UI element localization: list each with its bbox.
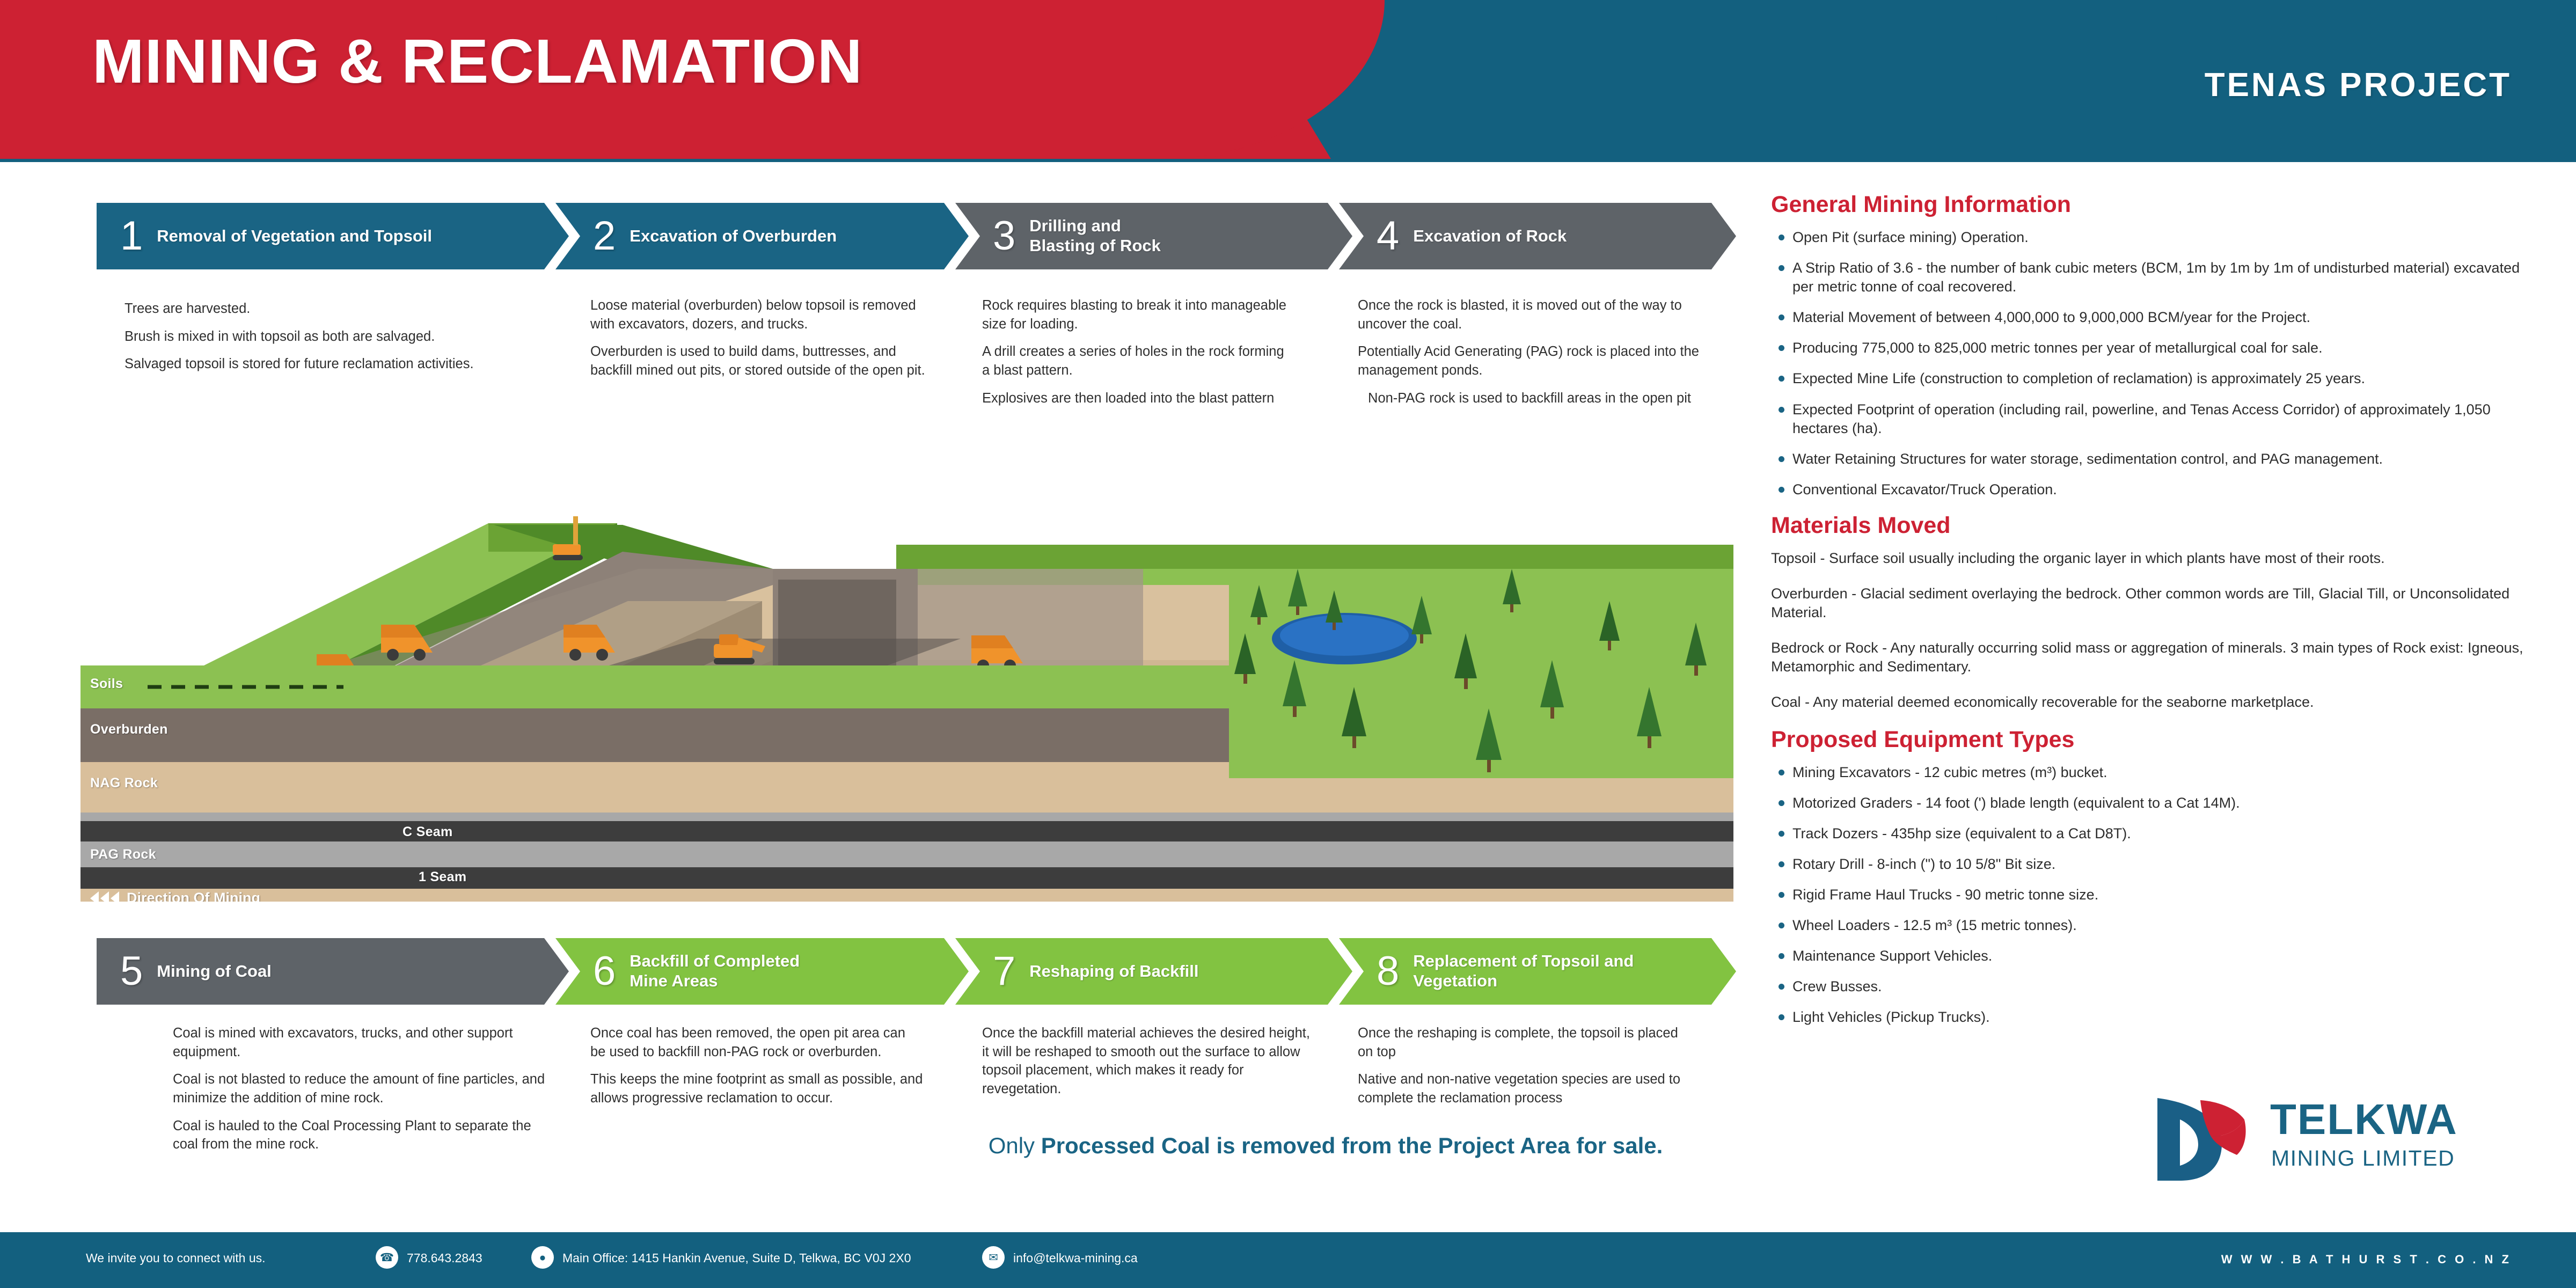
footer-website-url[interactable]: W W W . B A T H U R S T . C O . N Z — [2221, 1253, 2512, 1267]
step-paragraph: Once the rock is blasted, it is moved ou… — [1358, 296, 1701, 333]
definition-bedrock: Bedrock or Rock - Any naturally occurrin… — [1771, 639, 2533, 677]
step-paragraph: Native and non-native vegetation species… — [1358, 1070, 1690, 1107]
list-item: Producing 775,000 to 825,000 metric tonn… — [1771, 339, 2533, 357]
list-item: Water Retaining Structures for water sto… — [1771, 450, 2533, 469]
logo-wordmark: TELKWA — [2270, 1098, 2458, 1141]
step-number-7: 7 — [993, 951, 1015, 992]
step-text-5: Coal is mined with excavators, trucks, a… — [173, 1024, 548, 1163]
step-label-7: Reshaping of Backfill — [1029, 962, 1198, 982]
equipment-list: Mining Excavators - 12 cubic metres (m³)… — [1771, 763, 2533, 1027]
step-chevron-3[interactable]: 3 Drilling and Blasting of Rock — [955, 203, 1352, 269]
step-label-3: Drilling and Blasting of Rock — [1029, 216, 1190, 255]
list-item: Rotary Drill - 8-inch (") to 10 5/8" Bit… — [1771, 855, 2533, 874]
envelope-icon: ✉ — [982, 1246, 1005, 1269]
section-title-equipment: Proposed Equipment Types — [1771, 728, 2533, 751]
step-number-8: 8 — [1377, 951, 1399, 992]
step-paragraph: Loose material (overburden) below topsoi… — [590, 296, 934, 333]
step-label-8: Replacement of Topsoil and Vegetation — [1413, 952, 1638, 991]
list-item: Conventional Excavator/Truck Operation. — [1771, 480, 2533, 499]
phone-icon: ☎ — [376, 1246, 398, 1269]
step-paragraph: Salvaged topsoil is stored for future re… — [125, 355, 565, 374]
stratum-pag — [80, 841, 1229, 867]
footer-address: Main Office: 1415 Hankin Avenue, Suite D… — [562, 1252, 911, 1264]
mine-cross-section-diagram: Soils Overburden NAG Rock PAG Rock C Sea… — [80, 408, 1733, 902]
tagline-rest: is removed from the Project Area for sal… — [1210, 1133, 1663, 1158]
step-chevron-5[interactable]: 5 Mining of Coal — [97, 938, 569, 1005]
footer-arc-decoration — [1996, 0, 2576, 21]
tagline-lead: Only — [989, 1133, 1041, 1158]
step-text-2: Loose material (overburden) below topsoi… — [590, 296, 934, 389]
step-paragraph: Rock requires blasting to break it into … — [982, 296, 1293, 333]
page-header: MINING & RECLAMATION TENAS PROJECT — [0, 0, 2576, 159]
section-title-materials-moved: Materials Moved — [1771, 514, 2533, 537]
step-paragraph: Once the reshaping is complete, the tops… — [1358, 1024, 1690, 1061]
step-text-6: Once coal has been removed, the open pit… — [590, 1024, 923, 1117]
mine-diagram-svg — [80, 408, 1733, 902]
tagline-emphasis: Processed Coal — [1041, 1133, 1210, 1158]
list-item: Expected Mine Life (construction to comp… — [1771, 369, 2533, 388]
general-mining-list: Open Pit (surface mining) Operation. A S… — [1771, 228, 2533, 499]
telkwa-mark-icon — [2147, 1095, 2259, 1183]
logo-tagline: MINING LIMITED — [2271, 1147, 2455, 1169]
step-number-5: 5 — [120, 951, 143, 992]
materials-moved-definitions: Topsoil - Surface soil usually including… — [1771, 549, 2533, 712]
definition-topsoil: Topsoil - Surface soil usually including… — [1771, 549, 2533, 568]
list-item: Wheel Loaders - 12.5 m³ (15 metric tonne… — [1771, 916, 2533, 935]
list-item: Maintenance Support Vehicles. — [1771, 947, 2533, 965]
step-label-1: Removal of Vegetation and Topsoil — [157, 226, 432, 246]
step-paragraph: Potentially Acid Generating (PAG) rock i… — [1358, 342, 1701, 379]
location-pin-icon: ● — [531, 1246, 554, 1269]
list-item: Crew Busses. — [1771, 977, 2533, 996]
tagline: Only Processed Coal is removed from the … — [928, 1132, 1723, 1159]
step-text-7: Once the backfill material achieves the … — [982, 1024, 1315, 1108]
step-paragraph: Overburden is used to build dams, buttre… — [590, 342, 934, 379]
seam-label-1: 1 Seam — [419, 869, 466, 885]
seam-label-c: C Seam — [402, 824, 453, 840]
stratum-label-overburden: Overburden — [90, 722, 168, 737]
step-paragraph: Once coal has been removed, the open pit… — [590, 1024, 923, 1061]
step-chevron-8[interactable]: 8 Replacement of Topsoil and Vegetation — [1339, 938, 1736, 1005]
stratum-label-pag-rock: PAG Rock — [90, 847, 156, 862]
step-chevron-6[interactable]: 6 Backfill of Completed Mine Areas — [555, 938, 969, 1005]
left-arrows-icon — [90, 891, 119, 902]
direction-of-mining-label: Direction Of Mining — [127, 890, 260, 902]
stratum-c-seam — [80, 821, 1229, 841]
stratum-label-soils: Soils — [90, 676, 123, 692]
definition-overburden: Overburden - Glacial sediment overlaying… — [1771, 584, 2533, 623]
step-text-1: Trees are harvested. Brush is mixed in w… — [125, 299, 565, 383]
step-number-6: 6 — [593, 951, 616, 992]
list-item: Material Movement of between 4,000,000 t… — [1771, 308, 2533, 327]
step-paragraph: Coal is not blasted to reduce the amount… — [173, 1070, 548, 1107]
step-paragraph: Trees are harvested. — [125, 299, 565, 318]
footer-email[interactable]: info@telkwa-mining.ca — [1013, 1252, 1138, 1264]
direction-of-mining: Direction Of Mining — [90, 890, 260, 902]
list-item: Rigid Frame Haul Trucks - 90 metric tonn… — [1771, 885, 2533, 904]
step-number-2: 2 — [593, 216, 616, 257]
header-underline — [0, 159, 2576, 162]
step-text-8: Once the reshaping is complete, the tops… — [1358, 1024, 1690, 1117]
step-chevron-1[interactable]: 1 Removal of Vegetation and Topsoil — [97, 203, 569, 269]
list-item: Mining Excavators - 12 cubic metres (m³)… — [1771, 763, 2533, 782]
list-item: Expected Footprint of operation (includi… — [1771, 400, 2533, 438]
list-item: A Strip Ratio of 3.6 - the number of ban… — [1771, 259, 2533, 296]
stratum-overburden — [80, 708, 1229, 762]
project-name: TENAS PROJECT — [2205, 69, 2512, 102]
step-paragraph: Brush is mixed in with topsoil as both a… — [125, 327, 565, 346]
step-chevron-4[interactable]: 4 Excavation of Rock — [1339, 203, 1736, 269]
step-label-4: Excavation of Rock — [1413, 226, 1567, 246]
section-title-general-mining: General Mining Information — [1771, 193, 2533, 216]
step-label-6: Backfill of Completed Mine Areas — [630, 952, 833, 991]
step-number-3: 3 — [993, 216, 1015, 257]
list-item: Track Dozers - 435hp size (equivalent to… — [1771, 824, 2533, 843]
step-paragraph: This keeps the mine footprint as small a… — [590, 1070, 923, 1107]
step-label-2: Excavation of Overburden — [630, 226, 837, 246]
step-paragraph: Coal is mined with excavators, trucks, a… — [173, 1024, 548, 1061]
footer-phone[interactable]: 778.643.2843 — [407, 1252, 482, 1264]
step-paragraph: Coal is hauled to the Coal Processing Pl… — [173, 1117, 548, 1154]
poster-root: MINING & RECLAMATION TENAS PROJECT 1 Rem… — [0, 0, 2576, 1288]
definition-coal: Coal - Any material deemed economically … — [1771, 693, 2533, 712]
step-paragraph: Once the backfill material achieves the … — [982, 1024, 1315, 1099]
list-item: Motorized Graders - 14 foot (') blade le… — [1771, 794, 2533, 813]
page-footer: We invite you to connect with us. ☎ 778.… — [0, 1232, 2576, 1288]
page-title: MINING & RECLAMATION — [92, 30, 863, 92]
telkwa-logo: TELKWA MINING LIMITED — [2147, 1095, 2479, 1202]
stratum-1-seam — [80, 867, 1229, 889]
step-number-1: 1 — [120, 216, 143, 257]
step-label-5: Mining of Coal — [157, 962, 272, 982]
list-item: Light Vehicles (Pickup Trucks). — [1771, 1008, 2533, 1027]
list-item: Open Pit (surface mining) Operation. — [1771, 228, 2533, 247]
stratum-nag — [80, 762, 1229, 813]
step-number-4: 4 — [1377, 216, 1399, 257]
right-info-column: General Mining Information Open Pit (sur… — [1771, 193, 2533, 1039]
step-chevron-7[interactable]: 7 Reshaping of Backfill — [955, 938, 1352, 1005]
step-paragraph: A drill creates a series of holes in the… — [982, 342, 1293, 379]
stratum-label-nag-rock: NAG Rock — [90, 775, 158, 791]
step-chevron-2[interactable]: 2 Excavation of Overburden — [555, 203, 969, 269]
footer-invite: We invite you to connect with us. — [86, 1252, 266, 1264]
